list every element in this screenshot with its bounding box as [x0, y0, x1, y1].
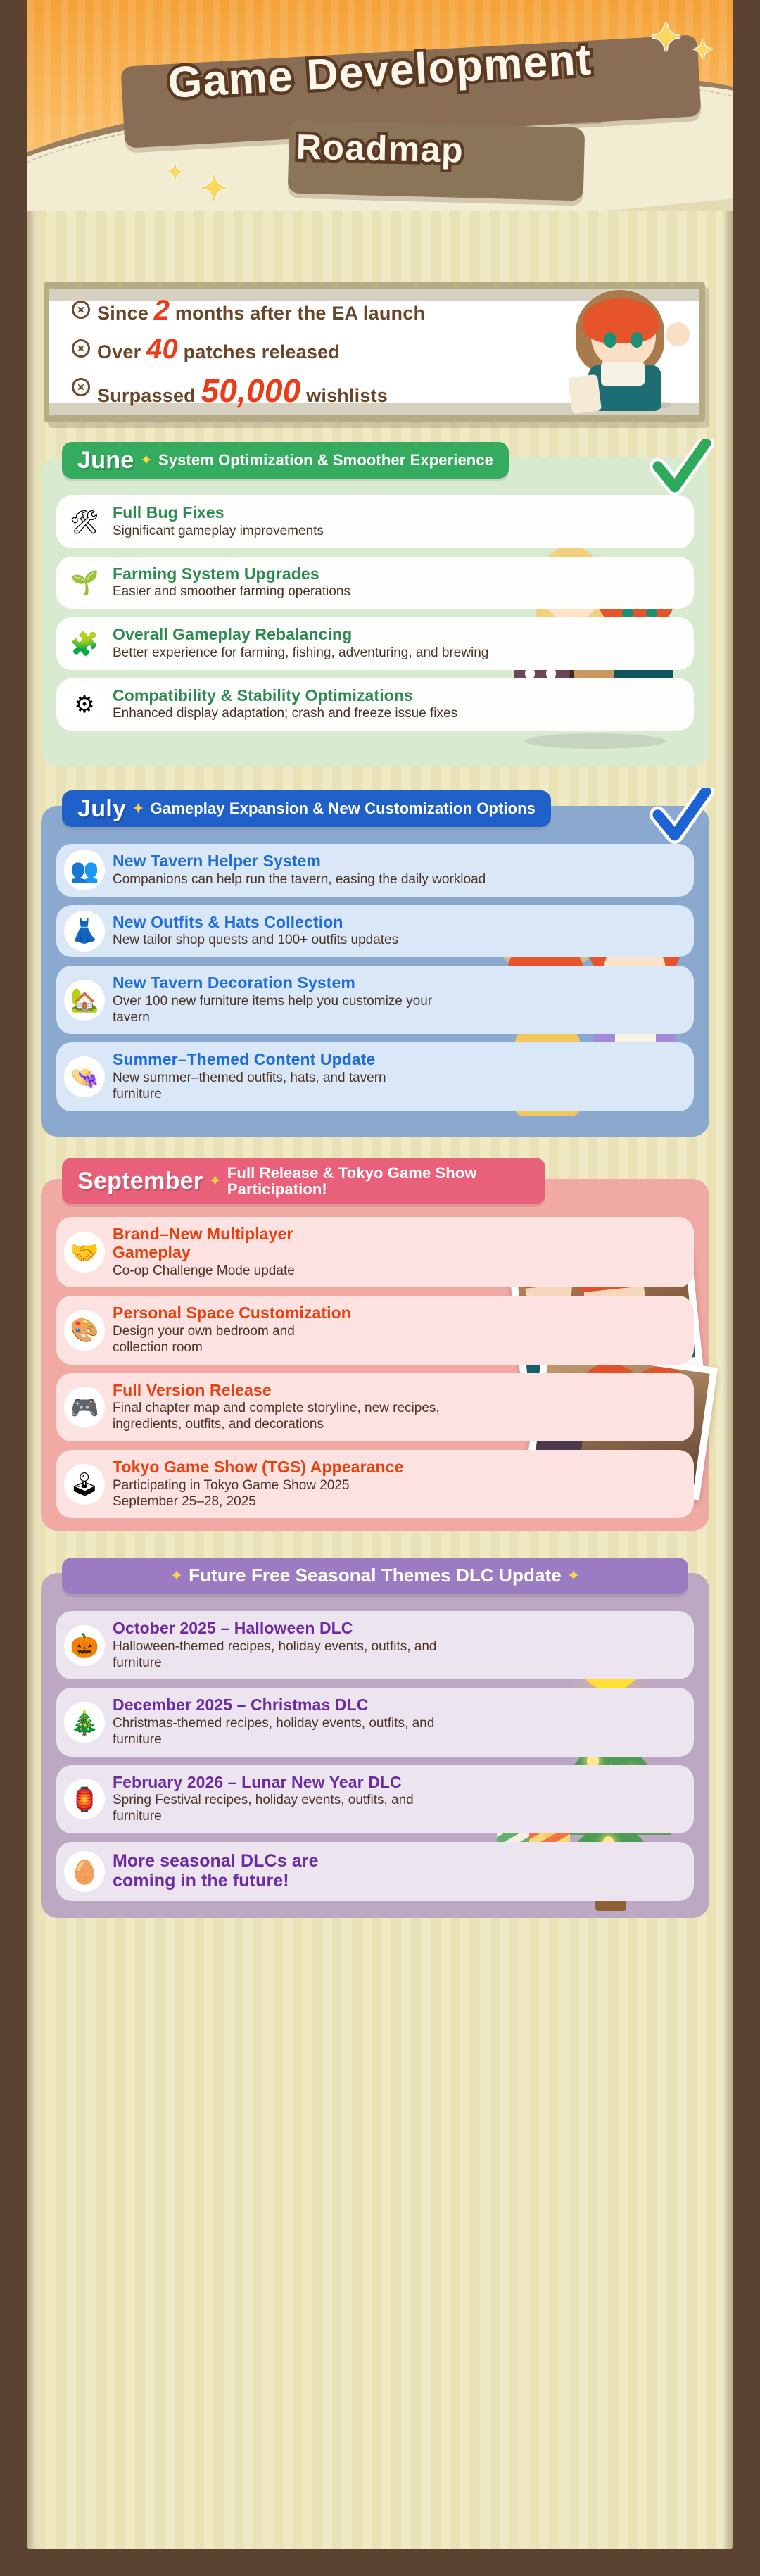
held-paper: [568, 374, 602, 415]
sun-hat-icon: 👒: [68, 1060, 101, 1094]
sparkle-icon: ✦: [166, 160, 184, 185]
section-subtitle: Future Free Seasonal Themes DLC Update: [189, 1566, 562, 1585]
list-item[interactable]: 🎃 October 2025 – Halloween DLC Halloween…: [56, 1611, 694, 1679]
seedling-icon: 🌱: [68, 566, 101, 600]
hammer-and-wrench-icon: 🛠: [68, 505, 101, 538]
sparkle-icon: ✦: [200, 169, 228, 208]
item-title: Tokyo Game Show (TGS) Appearance: [113, 1458, 518, 1477]
item-description: Companions can help run the tavern, easi…: [113, 872, 681, 888]
diamond-bullet-icon: [72, 378, 90, 396]
item-description: Over 100 new furniture items help you cu…: [113, 994, 436, 1026]
section-september: September ✦ Full Release & Tokyo Game Sh…: [41, 1179, 709, 1531]
list-item[interactable]: 🧩 Overall Gameplay Rebalancing Better ex…: [56, 617, 694, 670]
house-icon: 🏡: [68, 983, 101, 1017]
stat-text: Surpassed 50,000 wishlists: [97, 372, 388, 410]
handshake-icon: 🤝: [68, 1235, 101, 1269]
stat-number: 40: [146, 334, 178, 365]
item-title: Summer–Themed Content Update: [113, 1051, 681, 1069]
item-description: Easier and smoother farming operations: [113, 584, 681, 600]
red-lantern-icon: 🏮: [68, 1782, 101, 1816]
section-july: July ✦ Gameplay Expansion & New Customiz…: [41, 806, 709, 1137]
section-header-july[interactable]: July ✦ Gameplay Expansion & New Customiz…: [62, 790, 551, 827]
section-subtitle: System Optimization & Smoother Experienc…: [158, 452, 493, 468]
item-title: Farming System Upgrades: [113, 565, 681, 583]
item-description: Final chapter map and complete storyline…: [113, 1401, 479, 1433]
item-description: New tailor shop quests and 100+ outfits …: [113, 933, 436, 949]
stat-text: Since 2 months after the EA launch: [97, 294, 425, 327]
section-june: June ✦ System Optimization & Smoother Ex…: [41, 457, 709, 767]
jack-o-lantern-icon: 🎃: [68, 1629, 101, 1662]
joystick-icon: 🕹: [68, 1467, 101, 1501]
stat-row: Surpassed 50,000 wishlists: [72, 372, 522, 410]
stat-number: 50,000: [201, 372, 301, 409]
list-item[interactable]: 🎄 December 2025 – Christmas DLC Christma…: [56, 1688, 694, 1756]
dress-icon: 👗: [68, 914, 101, 948]
section-month-label: June: [77, 447, 134, 474]
item-title: New Tavern Decoration System: [113, 974, 681, 992]
two-people-icon: 👥: [68, 853, 101, 887]
character-illustration-waving-girl: [557, 286, 691, 411]
item-description: Co-op Challenge Mode update: [113, 1263, 483, 1280]
list-item[interactable]: 🌱 Farming System Upgrades Easier and smo…: [56, 557, 694, 610]
section-dlc: ✦ Future Free Seasonal Themes DLC Update…: [41, 1573, 709, 1918]
section-subtitle: Full Release & Tokyo Game Show Participa…: [227, 1165, 530, 1197]
eye-left: [604, 332, 616, 348]
item-description: Christmas-themed recipes, holiday events…: [113, 1716, 443, 1748]
item-description: Significant gameplay improvements: [113, 524, 681, 540]
diamond-bullet-icon: [72, 339, 90, 358]
blouse-shape: [601, 362, 645, 386]
content-column: Since 2 months after the EA launch Over …: [27, 211, 733, 2549]
list-item[interactable]: 🤝 Brand–New Multiplayer Gameplay Co-op C…: [56, 1217, 694, 1287]
section-month-label: September: [77, 1168, 203, 1195]
item-title: More seasonal DLCs are coming in the fut…: [113, 1851, 380, 1890]
diamond-bullet-icon: [72, 301, 90, 319]
puzzle-piece-icon: 🧩: [68, 626, 101, 660]
sparkle-icon: ✦: [208, 1172, 221, 1190]
item-title: New Outfits & Hats Collection: [113, 914, 681, 932]
item-title: New Tavern Helper System: [113, 852, 681, 871]
sparkle-icon: ✦: [132, 800, 144, 818]
item-title: February 2026 – Lunar New Year DLC: [113, 1774, 546, 1792]
section-header-dlc[interactable]: ✦ Future Free Seasonal Themes DLC Update…: [62, 1558, 688, 1594]
item-title: Personal Space Customization: [113, 1304, 483, 1322]
item-title: Compatibility & Stability Optimizations: [113, 687, 681, 705]
stat-suffix: wishlists: [300, 385, 388, 406]
list-item[interactable]: ⚙ Compatibility & Stability Optimization…: [56, 678, 694, 731]
sparkle-icon: ✦: [567, 1567, 580, 1585]
item-title: Full Bug Fixes: [113, 504, 681, 522]
sparkle-icon: ✦: [140, 451, 153, 469]
stat-suffix: months after the EA launch: [170, 303, 425, 324]
list-item[interactable]: 🎨 Personal Space Customization Design yo…: [56, 1296, 694, 1364]
game-controller-icon: 🎮: [68, 1390, 101, 1424]
section-items-june: 🛠 Full Bug Fixes Significant gameplay im…: [56, 495, 694, 739]
item-description: Spring Festival recipes, holiday events,…: [113, 1793, 429, 1825]
list-item[interactable]: 👥 New Tavern Helper System Companions ca…: [56, 844, 694, 897]
section-header-june[interactable]: June ✦ System Optimization & Smoother Ex…: [62, 442, 509, 479]
stat-suffix: patches released: [178, 341, 340, 362]
list-item[interactable]: 🥚 More seasonal DLCs are coming in the f…: [56, 1842, 694, 1901]
hair-shape: [583, 298, 659, 343]
section-items-july: 👥 New Tavern Helper System Companions ca…: [56, 844, 694, 1120]
stats-board: Since 2 months after the EA launch Over …: [44, 282, 705, 422]
check-mark-icon: [649, 439, 714, 504]
stat-row: Since 2 months after the EA launch: [72, 294, 522, 327]
item-description: Design your own bedroom and collection r…: [113, 1324, 345, 1356]
list-item[interactable]: 🏡 New Tavern Decoration System Over 100 …: [56, 966, 694, 1034]
item-description: New summer–themed outfits, hats, and tav…: [113, 1071, 436, 1103]
waving-hand: [666, 322, 690, 346]
item-description: Halloween-themed recipes, holiday events…: [113, 1639, 450, 1672]
check-mark-icon: [649, 788, 714, 852]
list-item[interactable]: 🕹 Tokyo Game Show (TGS) Appearance Parti…: [56, 1450, 694, 1518]
section-items-september: 🤝 Brand–New Multiplayer Gameplay Co-op C…: [56, 1217, 694, 1527]
list-item[interactable]: 👒 Summer–Themed Content Update New summe…: [56, 1042, 694, 1111]
stat-prefix: Over: [97, 341, 146, 362]
infographic-page: Game Development Roadmap ✦ ✦ ✦ ✦ Since 2…: [0, 0, 760, 2576]
list-item[interactable]: 🎮 Full Version Release Final chapter map…: [56, 1373, 694, 1441]
item-title: December 2025 – Christmas DLC: [113, 1696, 553, 1715]
sparkle-icon: ✦: [693, 37, 712, 63]
item-description: Participating in Tokyo Game Show 2025 Se…: [113, 1478, 408, 1510]
section-month-label: July: [77, 795, 126, 823]
section-items-dlc: 🎃 October 2025 – Halloween DLC Halloween…: [56, 1611, 694, 1909]
list-item[interactable]: 🛠 Full Bug Fixes Significant gameplay im…: [56, 495, 694, 548]
stat-number: 2: [154, 295, 170, 326]
stats-list: Since 2 months after the EA launch Over …: [72, 294, 522, 416]
stat-prefix: Since: [97, 303, 154, 324]
list-item[interactable]: 👗 New Outfits & Hats Collection New tail…: [56, 905, 694, 958]
decorated-egg-icon: 🥚: [68, 1855, 101, 1888]
section-subtitle: Gameplay Expansion & New Customization O…: [151, 800, 536, 816]
item-title: Overall Gameplay Rebalancing: [113, 626, 681, 644]
stat-row: Over 40 patches released: [72, 333, 522, 366]
sparkle-icon: ✦: [170, 1567, 183, 1585]
stat-text: Over 40 patches released: [97, 333, 340, 366]
stat-prefix: Surpassed: [97, 385, 201, 406]
christmas-tree-icon: 🎄: [68, 1705, 101, 1739]
item-description: Better experience for farming, fishing, …: [113, 645, 681, 662]
list-item[interactable]: 🏮 February 2026 – Lunar New Year DLC Spr…: [56, 1765, 694, 1833]
eye-right: [631, 332, 643, 348]
item-title: Brand–New Multiplayer Gameplay: [113, 1225, 338, 1262]
artist-palette-icon: 🎨: [68, 1313, 101, 1347]
item-title: October 2025 – Halloween DLC: [113, 1620, 574, 1638]
section-header-september[interactable]: September ✦ Full Release & Tokyo Game Sh…: [62, 1158, 545, 1204]
sparkle-icon: ✦: [650, 17, 681, 59]
gear-icon: ⚙: [68, 688, 101, 721]
item-title: Full Version Release: [113, 1382, 518, 1400]
hero-banner: Game Development Roadmap ✦ ✦ ✦ ✦: [27, 0, 733, 211]
item-description: Enhanced display adaptation; crash and f…: [113, 706, 681, 722]
